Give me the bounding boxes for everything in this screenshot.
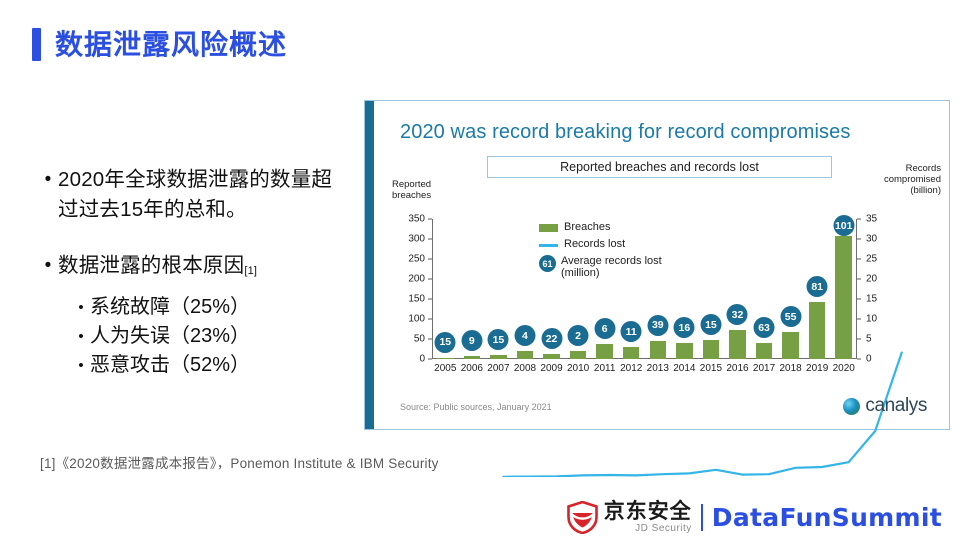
- x-axis-tick-label: 2016: [724, 363, 751, 374]
- bar: [782, 332, 798, 359]
- chart-panel-title: Reported breaches and records lost: [487, 156, 832, 178]
- y-axis-tick-label: 350: [408, 214, 425, 225]
- legend-label: Average records lost (million): [561, 255, 662, 279]
- bar: [756, 343, 772, 359]
- jd-wordmark: 京东安全 JD Security: [604, 501, 692, 534]
- legend-bubble-icon: 61: [539, 255, 556, 272]
- bullet-sublist: • 系统故障（25%） • 人为失误（23%） • 恶意攻击（52%）: [72, 293, 348, 380]
- x-axis-tick-label: 2011: [591, 363, 618, 374]
- x-axis-tick-label: 2012: [618, 363, 645, 374]
- bubble-label: 4: [514, 325, 535, 346]
- bar-column: [777, 219, 804, 359]
- bar: [464, 356, 480, 359]
- right-axis-caption: Records compromised (billion): [884, 163, 941, 196]
- y-axis-tick-label: 200: [408, 274, 425, 285]
- canalys-wordmark: canalys: [865, 395, 927, 417]
- bubble-label: 11: [621, 321, 642, 342]
- bubble-label: 15: [435, 332, 456, 353]
- bar: [835, 236, 851, 359]
- datafunsummit-wordmark: DataFunSummit: [712, 503, 942, 532]
- sub-item-text: 人为失误（23%）: [90, 322, 250, 351]
- jd-security-logo: 京东安全 JD Security: [567, 501, 692, 534]
- legend-label-line2: (million): [561, 267, 662, 279]
- x-axis-tick-label: 2010: [565, 363, 592, 374]
- sub-bullet-marker: •: [72, 293, 90, 322]
- canalys-logo: canalys: [843, 395, 927, 417]
- sub-bullet-marker: •: [72, 322, 90, 351]
- chart-source-note: Source: Public sources, January 2021: [400, 402, 552, 412]
- left-axis-caption: Reported breaches: [392, 179, 431, 201]
- canalys-globe-icon: [843, 398, 860, 415]
- y-axis-tick-label: 100: [408, 314, 425, 325]
- bar: [809, 302, 825, 359]
- chart-inner: 2020 was record breaking for record comp…: [374, 101, 949, 429]
- right-axis-caption-line3: (billion): [884, 185, 941, 196]
- x-axis-tick-label: 2005: [432, 363, 459, 374]
- y-axis-tick-label: 150: [408, 294, 425, 305]
- bullet-spacer: [38, 229, 348, 251]
- legend-label-line1: Average records lost: [561, 255, 662, 267]
- bubble-label: 55: [780, 306, 801, 327]
- y2-axis-tick-mark: [857, 299, 861, 300]
- chart-title: 2020 was record breaking for record comp…: [400, 121, 850, 144]
- legend-item-records-lost: Records lost: [539, 238, 662, 250]
- footnote-ref: [1]: [244, 265, 257, 277]
- right-axis-caption-line1: Records: [884, 163, 941, 174]
- bar: [596, 344, 612, 359]
- x-axis-tick-label: 2006: [459, 363, 486, 374]
- y2-axis-tick-label: 0: [866, 354, 872, 365]
- page-header: 数据泄露风险概述: [32, 28, 287, 61]
- bullet-item-1: • 2020年全球数据泄露的数量超过过去15年的总和。: [38, 165, 348, 225]
- y2-axis-tick-label: 30: [866, 234, 877, 245]
- legend-label: Records lost: [564, 238, 625, 250]
- left-axis-caption-line2: breaches: [392, 190, 431, 201]
- bar-column: [830, 219, 857, 359]
- bar: [623, 347, 639, 359]
- bubble-label: 15: [488, 329, 509, 350]
- legend-bar-swatch-icon: [539, 224, 558, 232]
- bubble-label: 2: [568, 325, 589, 346]
- sub-item: • 人为失误（23%）: [72, 322, 348, 351]
- x-axis-tick-label: 2013: [645, 363, 672, 374]
- sub-item: • 恶意攻击（52%）: [72, 351, 348, 380]
- y-axis-tick-label: 50: [414, 334, 425, 345]
- bubble-label: 9: [461, 330, 482, 351]
- x-axis-tick-label: 2018: [777, 363, 804, 374]
- legend-item-average-records: 61 Average records lost (million): [539, 255, 662, 279]
- x-axis-labels: 2005200620072008200920102011201220132014…: [432, 363, 857, 374]
- sub-bullet-marker: •: [72, 351, 90, 380]
- y2-axis-tick-label: 25: [866, 254, 877, 265]
- bubble-label: 22: [541, 328, 562, 349]
- bar-column: [698, 219, 725, 359]
- right-axis-caption-line2: compromised: [884, 174, 941, 185]
- bar: [703, 340, 719, 359]
- y2-axis-tick-label: 5: [866, 334, 872, 345]
- bar-column: [724, 219, 751, 359]
- bubble-label: 39: [647, 315, 668, 336]
- y2-axis-tick-mark: [857, 339, 861, 340]
- x-axis-tick-label: 2017: [751, 363, 778, 374]
- sub-item-text: 恶意攻击（52%）: [90, 351, 250, 380]
- chart-card: 2020 was record breaking for record comp…: [364, 100, 950, 430]
- y2-axis-tick-mark: [857, 259, 861, 260]
- logo-divider: [701, 504, 703, 531]
- bar: [437, 358, 453, 359]
- bar-column: [751, 219, 778, 359]
- x-axis-tick-label: 2015: [698, 363, 725, 374]
- slide-footnote: [1]《2020数据泄露成本报告》，Ponemon Institute & IB…: [40, 452, 439, 472]
- bar: [517, 351, 533, 359]
- bullet-marker: •: [38, 251, 58, 281]
- chart-legend: Breaches Records lost 61 Average records…: [539, 221, 662, 284]
- y2-axis-tick-label: 20: [866, 274, 877, 285]
- bubble-label: 63: [754, 317, 775, 338]
- y2-axis-tick-label: 10: [866, 314, 877, 325]
- legend-item-breaches: Breaches: [539, 221, 662, 233]
- x-axis-tick-label: 2020: [830, 363, 857, 374]
- x-axis-tick-label: 2019: [804, 363, 831, 374]
- y2-axis-tick-mark: [857, 359, 861, 360]
- x-axis-tick-label: 2009: [538, 363, 565, 374]
- y-axis-tick-label: 0: [419, 354, 425, 365]
- bar: [676, 343, 692, 359]
- y2-axis-tick-label: 15: [866, 294, 877, 305]
- bubble-label: 15: [700, 314, 721, 335]
- y2-axis-tick-mark: [857, 279, 861, 280]
- shield-icon: [567, 501, 598, 534]
- bullet-item-2-text: 数据泄露的根本原因[1]: [58, 251, 257, 284]
- bubble-label: 32: [727, 304, 748, 325]
- bar: [570, 351, 586, 359]
- x-axis-tick-label: 2014: [671, 363, 698, 374]
- sub-item-text: 系统故障（25%）: [90, 293, 250, 322]
- y-axis-tick-label: 250: [408, 254, 425, 265]
- bubble-label: 16: [674, 317, 695, 338]
- title-accent-bar: [32, 28, 41, 61]
- y2-axis-tick-mark: [857, 319, 861, 320]
- bar: [490, 355, 506, 359]
- legend-label: Breaches: [564, 221, 610, 233]
- bubble-label: 81: [807, 276, 828, 297]
- bullet-item-2-label: 数据泄露的根本原因: [58, 254, 244, 277]
- bubble-label: 101: [833, 215, 854, 236]
- bar: [543, 354, 559, 359]
- bullet-item-1-text: 2020年全球数据泄露的数量超过过去15年的总和。: [58, 165, 348, 225]
- bullet-item-2: • 数据泄露的根本原因[1]: [38, 251, 348, 284]
- page-title: 数据泄露风险概述: [55, 31, 287, 59]
- x-axis-tick-label: 2007: [485, 363, 512, 374]
- y2-axis-tick-label: 35: [866, 214, 877, 225]
- x-axis-tick-label: 2008: [512, 363, 539, 374]
- bar: [650, 341, 666, 359]
- jd-name-en: JD Security: [604, 524, 692, 534]
- chart-left-accent-bar: [365, 101, 374, 429]
- bar: [729, 330, 745, 359]
- sub-item: • 系统故障（25%）: [72, 293, 348, 322]
- bullet-marker: •: [38, 165, 58, 195]
- legend-line-swatch-icon: [539, 244, 558, 247]
- bubble-label: 6: [594, 318, 615, 339]
- left-axis-caption-line1: Reported: [392, 179, 431, 190]
- bullet-list: • 2020年全球数据泄露的数量超过过去15年的总和。 • 数据泄露的根本原因[…: [38, 165, 348, 380]
- footer-logos: 京东安全 JD Security DataFunSummit: [567, 501, 942, 534]
- y2-axis-tick-mark: [857, 239, 861, 240]
- y2-axis-tick-mark: [857, 219, 861, 220]
- jd-name-cn: 京东安全: [604, 501, 692, 522]
- y-axis-tick-label: 300: [408, 234, 425, 245]
